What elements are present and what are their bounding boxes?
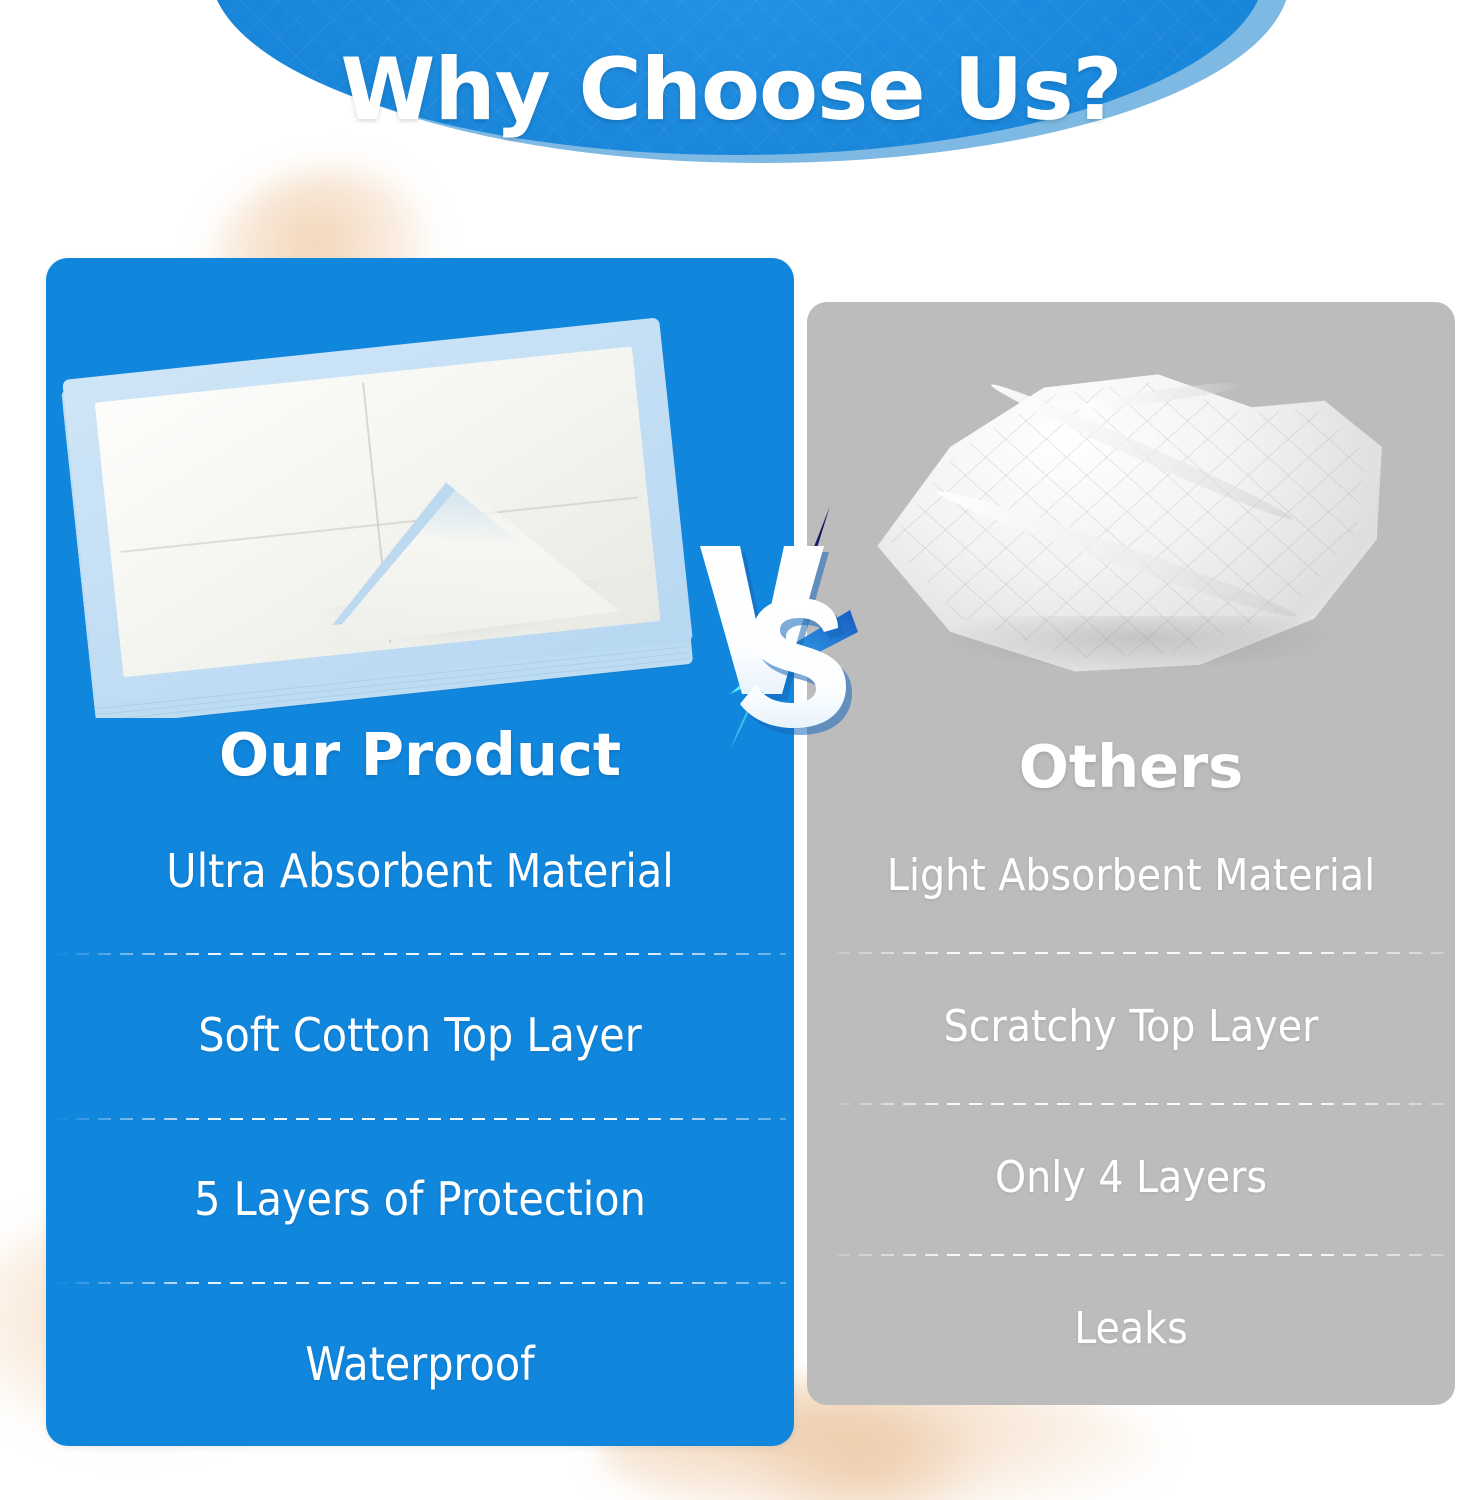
our-product-feature-list: Ultra Absorbent Material Soft Cotton Top… (46, 789, 794, 1446)
list-item: Light Absorbent Material (807, 801, 1455, 952)
others-feature-list: Light Absorbent Material Scratchy Top La… (807, 801, 1455, 1405)
list-item: Soft Cotton Top Layer (46, 953, 794, 1117)
our-product-feature-label: Ultra Absorbent Material (166, 846, 673, 897)
others-panel: Others Light Absorbent Material Scratchy… (807, 302, 1455, 1405)
list-item: Only 4 Layers (807, 1103, 1455, 1254)
others-feature-label: Scratchy Top Layer (944, 1003, 1319, 1051)
others-product-image (807, 302, 1455, 732)
crumpled-pad-illustration (867, 348, 1387, 678)
list-item: Waterproof (46, 1282, 794, 1446)
vs-badge-icon (678, 498, 893, 798)
underpad-stack-illustration (55, 268, 732, 718)
our-product-feature-label: Soft Cotton Top Layer (198, 1010, 642, 1061)
list-item: Scratchy Top Layer (807, 952, 1455, 1103)
infographic-canvas: Why Choose Us? Others Light Absorbent Ma… (0, 0, 1462, 1500)
our-product-feature-label: 5 Layers of Protection (194, 1174, 646, 1225)
list-item: 5 Layers of Protection (46, 1118, 794, 1282)
vs-badge (678, 498, 893, 798)
others-feature-label: Light Absorbent Material (887, 852, 1375, 900)
list-item: Ultra Absorbent Material (46, 789, 794, 953)
others-heading: Others (807, 732, 1455, 801)
page-title: Why Choose Us? (0, 40, 1462, 140)
crumpled-pad-shadow (947, 616, 1327, 670)
others-feature-label: Only 4 Layers (995, 1154, 1267, 1202)
our-product-feature-label: Waterproof (305, 1339, 534, 1390)
our-product-panel: Our Product Ultra Absorbent Material Sof… (46, 258, 794, 1446)
list-item: Leaks (807, 1254, 1455, 1405)
others-feature-label: Leaks (1074, 1305, 1187, 1353)
